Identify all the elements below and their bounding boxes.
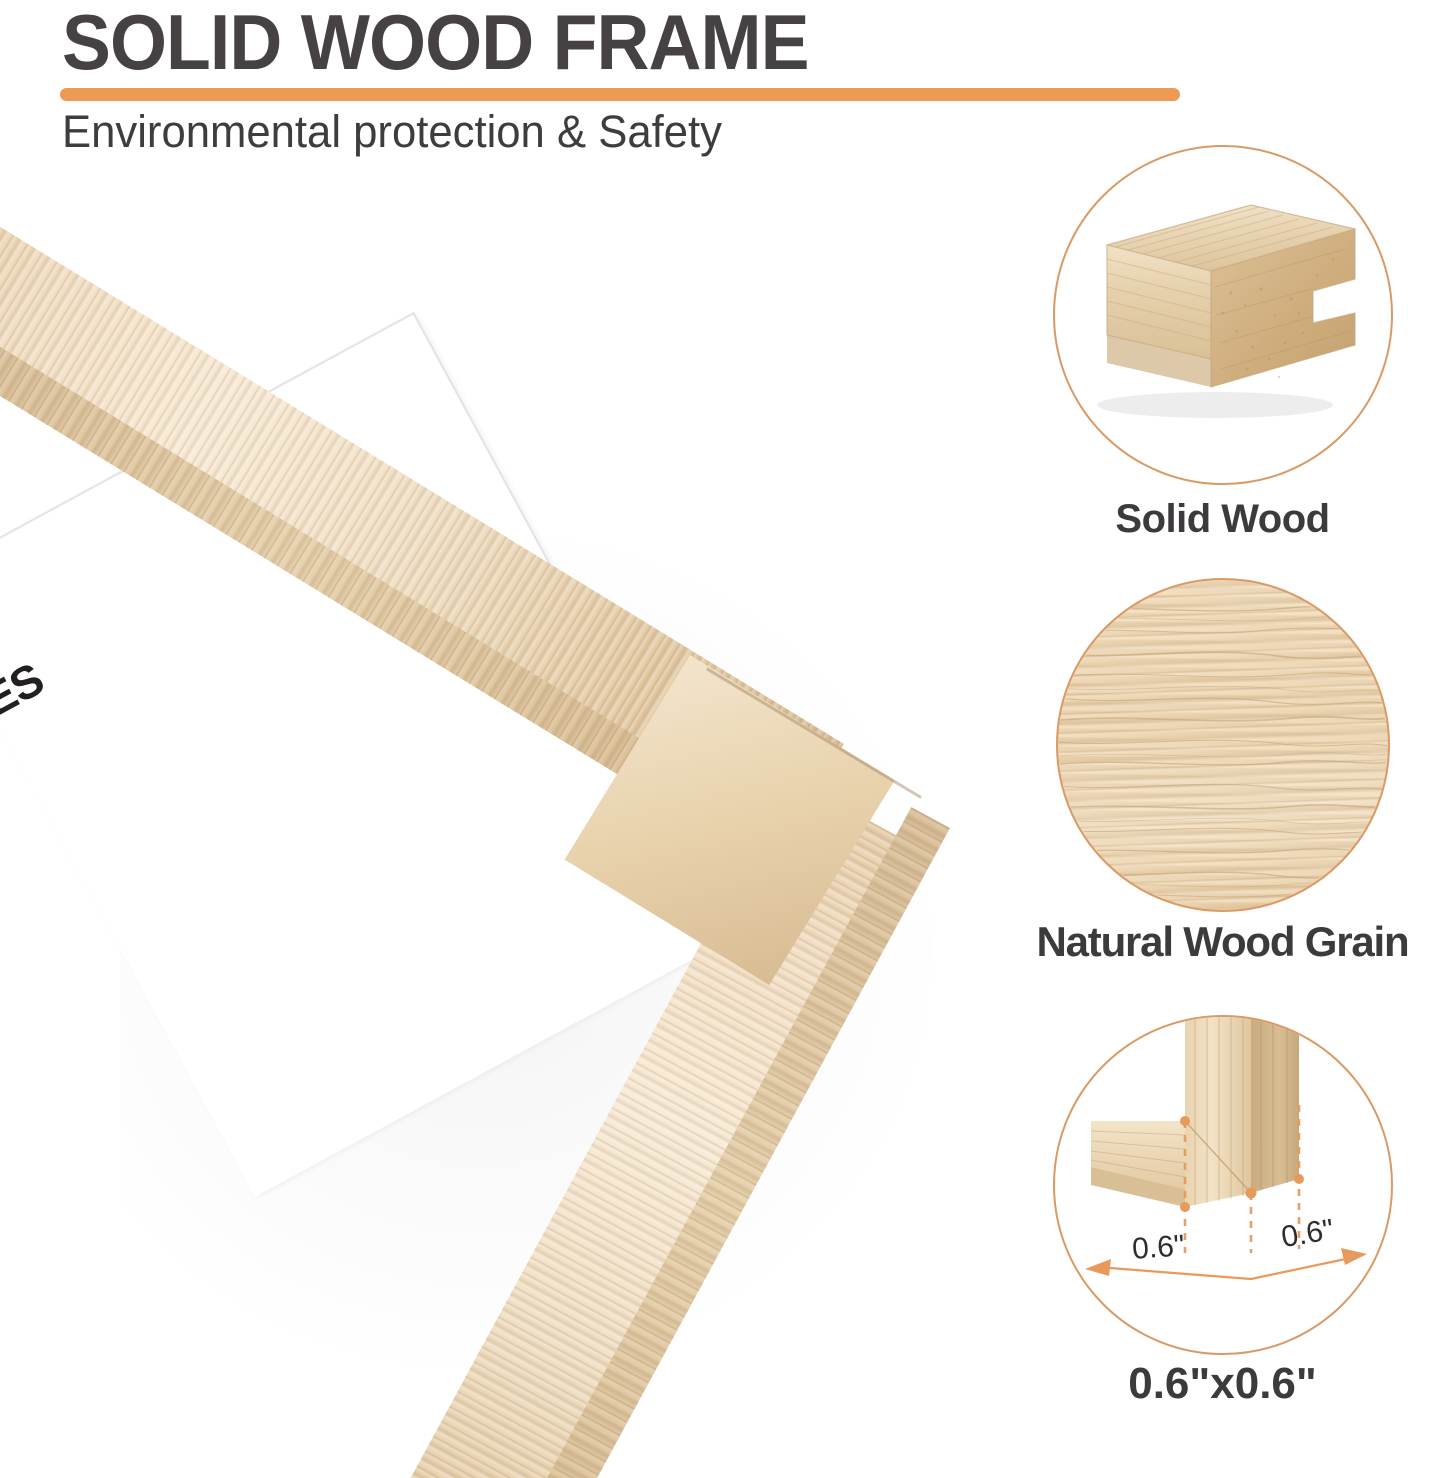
- callout-frame-dimensions: 0.6" 0.6" 0.6"x0.6": [1000, 1015, 1445, 1409]
- frame-photo: ES: [0, 150, 1000, 1478]
- callout-caption: Solid Wood: [1000, 497, 1445, 542]
- header: SOLID WOOD FRAME Environmental protectio…: [0, 0, 1200, 160]
- page-title: SOLID WOOD FRAME: [62, 2, 809, 84]
- frame-dimension-circle: 0.6" 0.6": [1053, 1015, 1393, 1355]
- dimension-label-left: 0.6": [1131, 1229, 1186, 1266]
- callout-natural-wood-grain: Natural Wood Grain: [1000, 578, 1445, 966]
- callout-caption: Natural Wood Grain: [1000, 918, 1445, 966]
- wood-profile-block-icon: [1055, 147, 1391, 483]
- wood-grain-swatch-icon: [1056, 578, 1390, 912]
- solid-wood-circle: [1053, 145, 1393, 485]
- callout-solid-wood: Solid Wood: [1000, 145, 1445, 542]
- title-divider-rule: [60, 88, 1180, 101]
- wood-grain-lines: [1058, 580, 1388, 910]
- frame-corner-dimension-icon: 0.6" 0.6": [1055, 1017, 1391, 1353]
- product-feature-image: SOLID WOOD FRAME Environmental protectio…: [0, 0, 1445, 1478]
- callout-caption: 0.6"x0.6": [1000, 1359, 1445, 1409]
- dimension-label-right: 0.6": [1279, 1213, 1336, 1254]
